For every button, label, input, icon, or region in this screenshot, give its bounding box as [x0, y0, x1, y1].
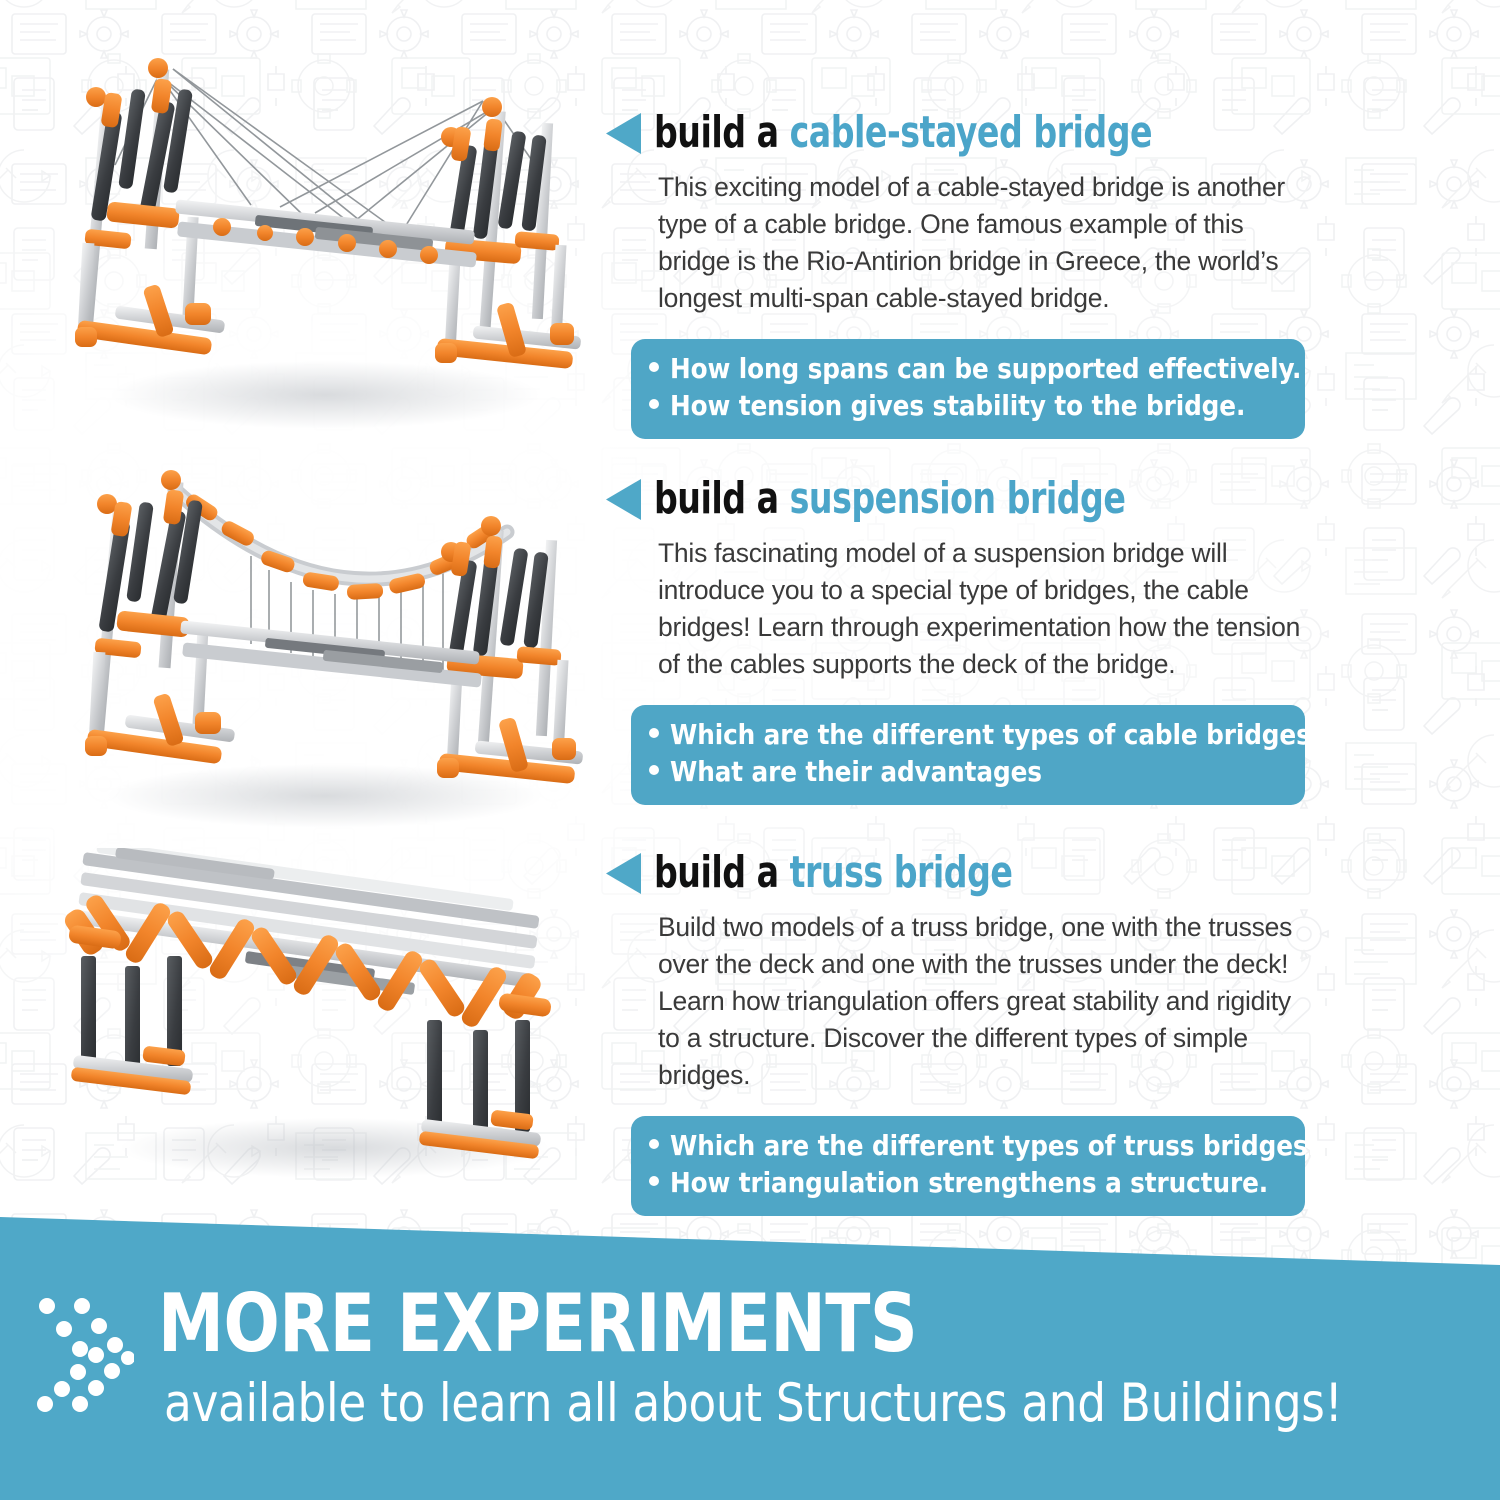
engino-chevron-dots-icon	[34, 1292, 134, 1414]
bullet-dot-icon	[649, 1139, 659, 1149]
suspension-bridge-model	[55, 448, 595, 848]
section-heading: build a suspension bridge	[654, 477, 1125, 521]
bullet-dot-icon	[649, 1176, 659, 1186]
callout-text: How triangulation strengthens a structur…	[670, 1165, 1268, 1202]
callout-bullet-item: How tension gives stability to the bridg…	[649, 388, 1287, 425]
heading-prefix: build a	[654, 473, 790, 524]
bullet-dot-icon	[649, 765, 659, 775]
heading-highlight: cable-stayed bridge	[790, 107, 1152, 158]
triangle-left-icon	[606, 113, 641, 154]
more-experiments-banner: MORE EXPERIMENTS available to learn all …	[0, 1190, 1500, 1500]
callout-text: How long spans can be supported effectiv…	[670, 351, 1301, 388]
truss-bridge-model	[55, 848, 595, 1198]
callout-text: How tension gives stability to the bridg…	[670, 388, 1245, 425]
section-heading: build a truss bridge	[654, 851, 1012, 895]
bullet-dot-icon	[649, 399, 659, 409]
callout-text: Which are the different types of truss b…	[670, 1128, 1317, 1165]
learning-outcomes-callout: Which are the different types of cable b…	[631, 705, 1305, 805]
banner-subtitle: available to learn all about Structures …	[164, 1374, 1355, 1434]
callout-bullet-item: How triangulation strengthens a structur…	[649, 1165, 1287, 1202]
infographic-page: build a cable-stayed bridge This excitin…	[0, 0, 1500, 1500]
cable-stayed-bridge-model	[55, 45, 595, 445]
section-cable-stayed-bridge: build a cable-stayed bridge This excitin…	[606, 108, 1312, 439]
banner-text-block: MORE EXPERIMENTS available to learn all …	[158, 1284, 1418, 1434]
section-body-text: This fascinating model of a suspension b…	[658, 535, 1312, 683]
callout-bullet-item: What are their advantages	[649, 754, 1287, 791]
section-truss-bridge: build a truss bridge Build two models of…	[606, 848, 1312, 1216]
triangle-left-icon	[606, 853, 641, 894]
section-heading: build a cable-stayed bridge	[654, 111, 1152, 155]
callout-text: Which are the different types of cable b…	[670, 717, 1320, 754]
learning-outcomes-callout: Which are the different types of truss b…	[631, 1116, 1305, 1216]
heading-highlight: suspension bridge	[790, 473, 1126, 524]
heading-row: build a cable-stayed bridge	[606, 108, 1312, 158]
heading-highlight: truss bridge	[790, 847, 1013, 898]
section-body-text: Build two models of a truss bridge, one …	[658, 909, 1312, 1094]
learning-outcomes-callout: How long spans can be supported effectiv…	[631, 339, 1305, 439]
section-body-text: This exciting model of a cable-stayed br…	[658, 169, 1312, 317]
section-suspension-bridge: build a suspension bridge This fascinati…	[606, 474, 1312, 805]
heading-row: build a suspension bridge	[606, 474, 1312, 524]
triangle-left-icon	[606, 479, 641, 520]
bullet-dot-icon	[649, 728, 659, 738]
heading-prefix: build a	[654, 847, 790, 898]
banner-title: MORE EXPERIMENTS	[158, 1284, 1317, 1364]
bullet-dot-icon	[649, 362, 659, 372]
heading-row: build a truss bridge	[606, 848, 1312, 898]
callout-bullet-item: Which are the different types of cable b…	[649, 717, 1287, 754]
callout-bullet-item: Which are the different types of truss b…	[649, 1128, 1287, 1165]
callout-bullet-item: How long spans can be supported effectiv…	[649, 351, 1287, 388]
heading-prefix: build a	[654, 107, 790, 158]
callout-text: What are their advantages	[670, 754, 1042, 791]
